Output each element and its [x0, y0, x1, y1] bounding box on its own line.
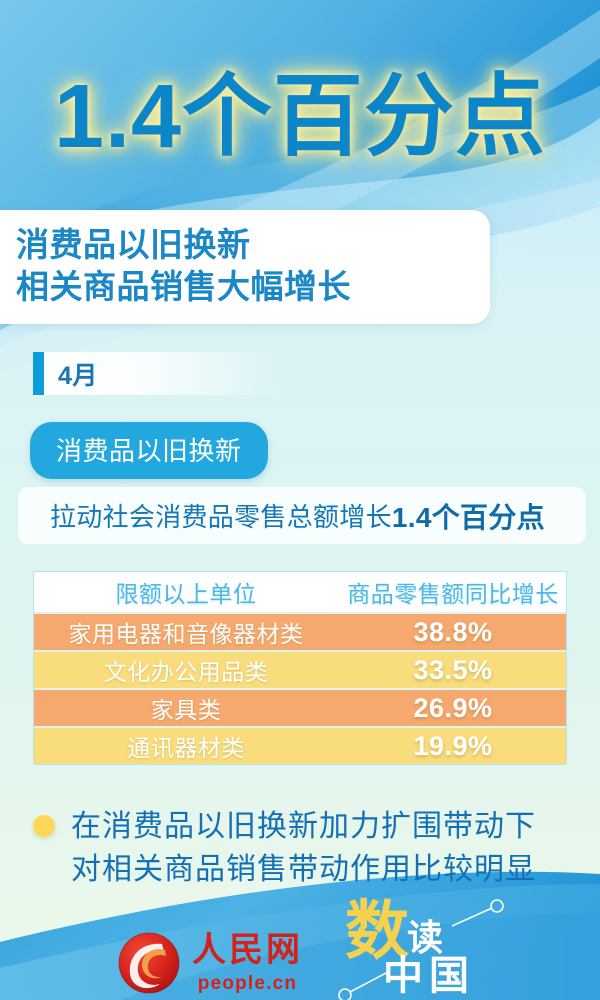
people-cn-latin-name: people.cn — [192, 974, 303, 993]
summary-note-line-1: 在消费品以旧换新加力扩围带动下 — [71, 806, 536, 849]
people-cn-globe-icon — [118, 932, 180, 994]
retail-growth-table: 限额以上单位 商品零售额同比增长 家用电器和音像器材类 38.8% 文化办公用品… — [33, 571, 567, 765]
infographic-poster: 1.4个百分点 消费品以旧换新 相关商品销售大幅增长 4月 消费品以旧换新 拉动… — [0, 0, 600, 1000]
topic-pill: 消费品以旧换新 — [30, 422, 268, 479]
summary-note-line-2: 对相关商品销售带动作用比较明显 — [71, 849, 536, 892]
subtitle-card: 消费品以旧换新 相关商品销售大幅增长 — [0, 210, 490, 324]
period-band: 4月 — [33, 352, 281, 395]
table-cell-category: 通讯器材类 — [34, 728, 338, 764]
table-header-row: 限额以上单位 商品零售额同比增长 — [34, 572, 566, 612]
brand-chars-zhongguo: 中国 — [383, 956, 475, 996]
page-title: 1.4个百分点 — [0, 72, 600, 162]
people-cn-logo: 人民网 people.cn — [118, 932, 303, 994]
summary-note-lines: 在消费品以旧换新加力扩围带动下 对相关商品销售带动作用比较明显 — [71, 806, 536, 891]
table-cell-value: 19.9% — [338, 728, 567, 764]
brand-char-du: 读 — [407, 920, 443, 956]
people-cn-wordmark: 人民网 people.cn — [192, 934, 303, 993]
subtitle-line-2: 相关商品销售大幅增长 — [16, 266, 468, 308]
table-row: 通讯器材类 19.9% — [34, 728, 566, 764]
table-cell-category: 家具类 — [34, 690, 338, 726]
table-header-value: 商品零售额同比增长 — [338, 572, 567, 612]
table-row: 家用电器和音像器材类 38.8% — [34, 614, 566, 650]
period-label: 4月 — [58, 356, 98, 392]
statement-panel: 拉动社会消费品零售总额增长 1.4个百分点 — [18, 487, 586, 544]
statement-text: 拉动社会消费品零售总额增长 — [50, 497, 392, 534]
period-accent-bar — [33, 352, 44, 395]
table-row: 家具类 26.9% — [34, 690, 566, 726]
bullet-dot-icon — [33, 815, 55, 837]
table-cell-value: 33.5% — [338, 652, 567, 688]
summary-note: 在消费品以旧换新加力扩围带动下 对相关商品销售带动作用比较明显 — [33, 806, 573, 891]
topic-pill-label: 消费品以旧换新 — [56, 436, 242, 466]
people-cn-chinese-name: 人民网 — [192, 934, 303, 968]
table-header-category: 限额以上单位 — [34, 572, 338, 612]
statement-highlight: 1.4个百分点 — [392, 496, 545, 536]
table-cell-value: 26.9% — [338, 690, 567, 726]
subtitle-line-1: 消费品以旧换新 — [16, 224, 468, 266]
table-cell-category: 家用电器和音像器材类 — [34, 614, 338, 650]
shudu-zhongguo-brand: 数 读 中国 — [345, 898, 545, 1000]
table-cell-value: 38.8% — [338, 614, 567, 650]
table-cell-category: 文化办公用品类 — [34, 652, 338, 688]
table-row: 文化办公用品类 33.5% — [34, 652, 566, 688]
